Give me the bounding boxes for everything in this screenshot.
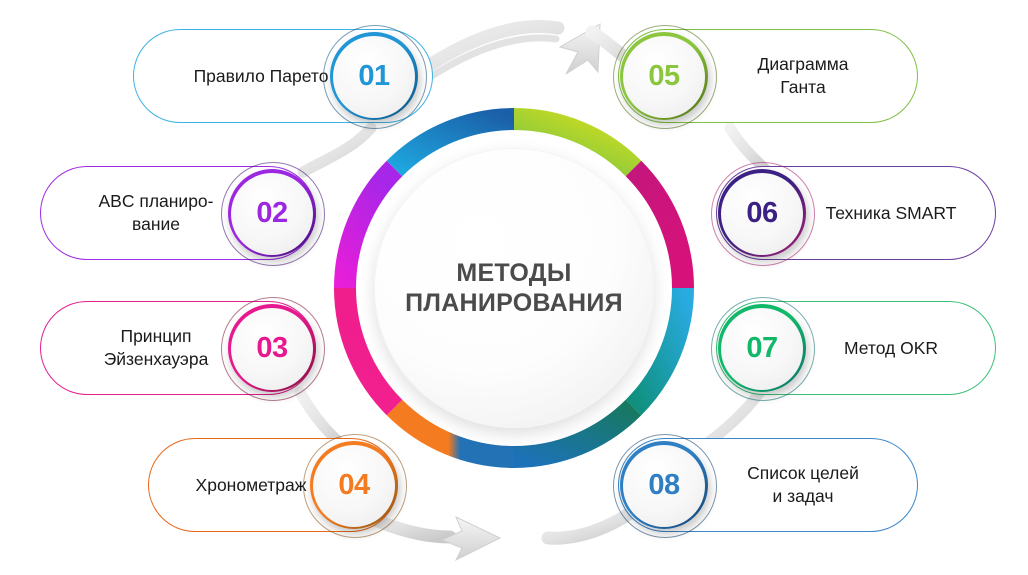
center-title-line1: МЕТОДЫ <box>456 258 571 289</box>
item-badge-05[interactable]: 05 <box>620 32 708 120</box>
item-badge-07[interactable]: 07 <box>718 304 806 392</box>
badge-number-06: 06 <box>746 197 777 230</box>
item-badge-04[interactable]: 04 <box>310 441 398 529</box>
center-title: МЕТОДЫ ПЛАНИРОВАНИЯ <box>374 148 654 428</box>
item-badge-08[interactable]: 08 <box>620 441 708 529</box>
badge-number-07: 07 <box>746 332 777 365</box>
arrow-head-bottom <box>442 517 500 560</box>
arrow-head-top <box>560 24 600 74</box>
item-badge-06[interactable]: 06 <box>718 169 806 257</box>
center-title-line2: ПЛАНИРОВАНИЯ <box>405 288 623 319</box>
badge-number-08: 08 <box>648 469 679 502</box>
badge-number-01: 01 <box>358 60 389 93</box>
item-badge-03[interactable]: 03 <box>228 304 316 392</box>
ribbon-bottom-to-08 <box>548 512 632 538</box>
central-donut: МЕТОДЫ ПЛАНИРОВАНИЯ <box>334 108 694 468</box>
badge-number-04: 04 <box>338 469 369 502</box>
badge-number-03: 03 <box>256 332 287 365</box>
badge-number-05: 05 <box>648 60 679 93</box>
item-badge-01[interactable]: 01 <box>330 32 418 120</box>
item-badge-02[interactable]: 02 <box>228 169 316 257</box>
infographic-canvas: МЕТОДЫ ПЛАНИРОВАНИЯ Правило Парето01ABC … <box>0 0 1028 575</box>
badge-number-02: 02 <box>256 197 287 230</box>
